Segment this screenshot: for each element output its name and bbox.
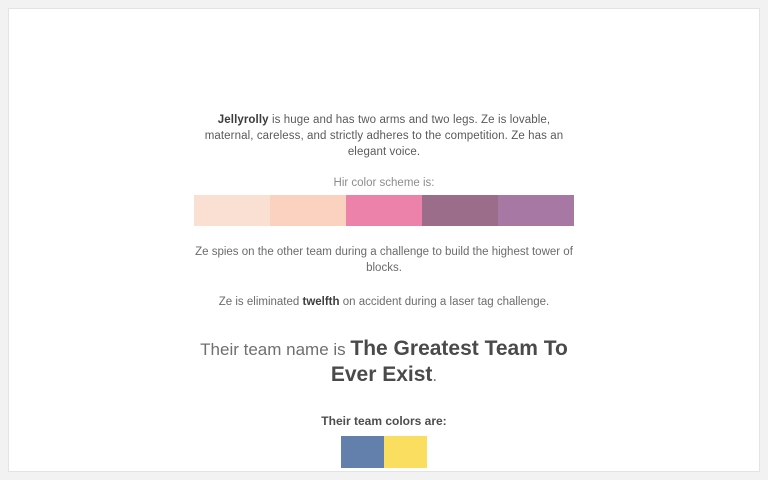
character-elimination-text: Ze is eliminated twelfth on accident dur… bbox=[194, 294, 574, 310]
elimination-suffix: on accident during a laser tag challenge… bbox=[340, 296, 550, 308]
color-swatch-2 bbox=[270, 195, 346, 226]
elimination-place: twelfth bbox=[302, 296, 339, 308]
team-color-2 bbox=[384, 436, 427, 468]
character-description: Jellyrolly is huge and has two arms and … bbox=[194, 112, 574, 160]
color-swatch-3 bbox=[346, 195, 422, 226]
color-scheme-swatches bbox=[194, 195, 574, 226]
generator-content: Jellyrolly is huge and has two arms and … bbox=[194, 9, 574, 472]
team-color-1 bbox=[341, 436, 384, 468]
team-name-heading: Their team name is The Greatest Team To … bbox=[194, 336, 574, 388]
color-swatch-1 bbox=[194, 195, 270, 226]
team-name-value: The Greatest Team To Ever Exist bbox=[331, 337, 568, 386]
color-swatch-5 bbox=[498, 195, 574, 226]
character-name: Jellyrolly bbox=[218, 114, 269, 126]
team-colors-label: Their team colors are: bbox=[194, 414, 574, 428]
team-color-swatches bbox=[341, 436, 427, 468]
color-scheme-label: Hir color scheme is: bbox=[194, 177, 574, 189]
color-swatch-4 bbox=[422, 195, 498, 226]
elimination-prefix: Ze is eliminated bbox=[219, 296, 303, 308]
page-canvas: Jellyrolly is huge and has two arms and … bbox=[8, 8, 760, 472]
character-event-text: Ze spies on the other team during a chal… bbox=[194, 244, 574, 276]
team-name-prefix: Their team name is bbox=[200, 340, 350, 359]
team-name-suffix: . bbox=[432, 366, 437, 385]
